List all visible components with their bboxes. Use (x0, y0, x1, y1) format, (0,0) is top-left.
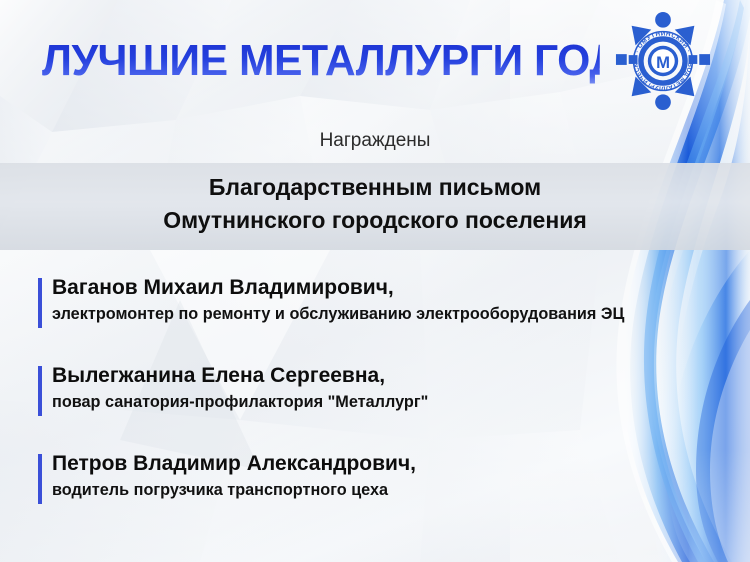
list-item: Вылегжанина Елена Сергеевна, повар санат… (0, 362, 750, 420)
honoree-name: Петров Владимир Александрович, (52, 450, 416, 478)
honoree-name: Ваганов Михаил Владимирович, (52, 274, 394, 302)
award-title-line-2: Омутнинского городского поселения (0, 204, 750, 237)
accent-bar (38, 278, 42, 328)
awarded-label: Награждены (0, 128, 750, 154)
omutninsk-metallurgical-plant-logo-icon: · ОМУТНИНСКИЙ · ЗАВОД МЕТАЛЛУРГИЧЕСКИЙ М (614, 12, 712, 110)
award-title: Благодарственным письмом Омутнинского го… (0, 171, 750, 237)
honoree-role: повар санатория-профилактория "Металлург… (52, 390, 428, 414)
accent-bar (38, 366, 42, 416)
accent-bar (38, 454, 42, 504)
honoree-list: Ваганов Михаил Владимирович, электромонт… (0, 274, 750, 538)
honoree-name: Вылегжанина Елена Сергеевна, (52, 362, 385, 390)
slide-root: ЛУЧШИЕ МЕТАЛЛУРГИ ГОДА (0, 0, 750, 562)
logo-monogram: М (656, 53, 670, 72)
honoree-role: электромонтер по ремонту и обслуживанию … (52, 302, 624, 326)
page-title: ЛУЧШИЕ МЕТАЛЛУРГИ ГОДА (42, 34, 600, 88)
award-title-line-1: Благодарственным письмом (0, 171, 750, 204)
list-item: Петров Владимир Александрович, водитель … (0, 450, 750, 508)
honoree-role: водитель погрузчика транспортного цеха (52, 478, 388, 502)
list-item: Ваганов Михаил Владимирович, электромонт… (0, 274, 750, 332)
